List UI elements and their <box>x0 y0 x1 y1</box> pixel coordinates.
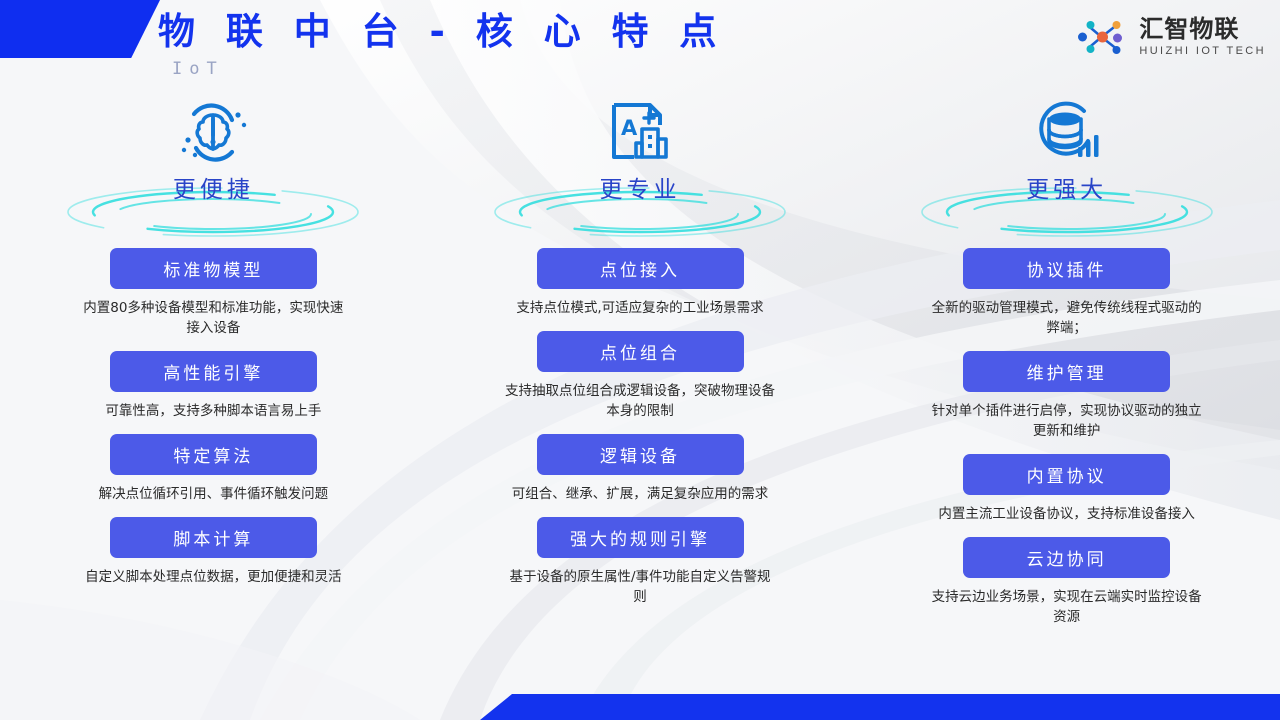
card-title-button[interactable]: 内置协议 <box>963 454 1170 495</box>
card-title-button[interactable]: 点位组合 <box>537 331 744 372</box>
column-heading-wrap-1: 更便捷 <box>63 168 363 240</box>
card-title-button[interactable]: 强大的规则引擎 <box>537 517 744 558</box>
company-logo: 汇智物联 HUIZHI IOT TECH <box>1075 14 1266 60</box>
card-list-1: 标准物模型 内置80多种设备模型和标准功能，实现快速接入设备 高性能引擎 可靠性… <box>0 248 427 600</box>
database-chart-icon <box>1032 98 1102 168</box>
card-description: 全新的驱动管理模式，避免传统线程式驱动的弊端； <box>932 298 1202 338</box>
card-title-button[interactable]: 特定算法 <box>110 434 317 475</box>
card-title-button[interactable]: 高性能引擎 <box>110 351 317 392</box>
svg-text:A: A <box>621 116 638 140</box>
card-description: 可组合、继承、扩展，满足复杂应用的需求 <box>505 484 775 504</box>
card-description: 支持云边业务场景，实现在云端实时监控设备资源 <box>932 587 1202 627</box>
page-title: 物 联 中 台 - 核 心 特 点 <box>158 8 725 56</box>
slide-root: 物 联 中 台 - 核 心 特 点 IoT 汇智物联 HUIZHI IOT TE… <box>0 0 1280 720</box>
card-title-button[interactable]: 逻辑设备 <box>537 434 744 475</box>
feature-card: 强大的规则引擎 基于设备的原生属性/事件功能自定义告警规则 <box>427 517 854 607</box>
column-heading-wrap-3: 更强大 <box>917 168 1217 240</box>
card-description: 自定义脚本处理点位数据，更加便捷和灵活 <box>78 567 348 587</box>
footer-accent-shape <box>480 694 1280 720</box>
document-grade-icon: A <box>606 98 674 168</box>
feature-column-1: 更便捷 标准物模型 内置80多种设备模型和标准功能，实现快速接入设备 高性能引擎… <box>0 96 427 720</box>
brain-ai-icon <box>176 98 250 168</box>
card-list-2: 点位接入 支持点位模式,可适应复杂的工业场景需求 点位组合 支持抽取点位组合成逻… <box>427 248 854 620</box>
feature-card: 点位接入 支持点位模式,可适应复杂的工业场景需求 <box>427 248 854 318</box>
feature-column-2: A <box>427 96 854 720</box>
logo-name-cn: 汇智物联 <box>1139 17 1266 41</box>
feature-column-3: 更强大 协议插件 全新的驱动管理模式，避免传统线程式驱动的弊端； 维护管理 针对… <box>853 96 1280 720</box>
feature-card: 特定算法 解决点位循环引用、事件循环触发问题 <box>0 434 427 504</box>
card-description: 针对单个插件进行启停，实现协议驱动的独立更新和维护 <box>932 401 1202 441</box>
feature-card: 云边协同 支持云边业务场景，实现在云端实时监控设备资源 <box>853 537 1280 627</box>
feature-card: 脚本计算 自定义脚本处理点位数据，更加便捷和灵活 <box>0 517 427 587</box>
feature-card: 高性能引擎 可靠性高，支持多种脚本语言易上手 <box>0 351 427 421</box>
page-subtitle: IoT <box>172 59 725 79</box>
card-description: 内置主流工业设备协议，支持标准设备接入 <box>932 504 1202 524</box>
header-accent-shape <box>0 0 160 58</box>
molecule-network-icon <box>1075 14 1131 60</box>
column-heading-3: 更强大 <box>1026 168 1107 204</box>
feature-card: 维护管理 针对单个插件进行启停，实现协议驱动的独立更新和维护 <box>853 351 1280 441</box>
logo-text-block: 汇智物联 HUIZHI IOT TECH <box>1139 17 1266 57</box>
card-description: 基于设备的原生属性/事件功能自定义告警规则 <box>505 567 775 607</box>
column-heading-wrap-2: 更专业 <box>490 168 790 240</box>
feature-card: 标准物模型 内置80多种设备模型和标准功能，实现快速接入设备 <box>0 248 427 338</box>
feature-card: 内置协议 内置主流工业设备协议，支持标准设备接入 <box>853 454 1280 524</box>
card-description: 支持抽取点位组合成逻辑设备，突破物理设备本身的限制 <box>505 381 775 421</box>
feature-columns: 更便捷 标准物模型 内置80多种设备模型和标准功能，实现快速接入设备 高性能引擎… <box>0 96 1280 720</box>
card-title-button[interactable]: 协议插件 <box>963 248 1170 289</box>
logo-name-en: HUIZHI IOT TECH <box>1139 46 1266 57</box>
card-description: 内置80多种设备模型和标准功能，实现快速接入设备 <box>78 298 348 338</box>
card-description: 支持点位模式,可适应复杂的工业场景需求 <box>505 298 775 318</box>
card-title-button[interactable]: 点位接入 <box>537 248 744 289</box>
card-description: 可靠性高，支持多种脚本语言易上手 <box>78 401 348 421</box>
title-block: 物 联 中 台 - 核 心 特 点 IoT <box>158 8 725 79</box>
column-heading-2: 更专业 <box>600 168 681 204</box>
feature-card: 逻辑设备 可组合、继承、扩展，满足复杂应用的需求 <box>427 434 854 504</box>
card-list-3: 协议插件 全新的驱动管理模式，避免传统线程式驱动的弊端； 维护管理 针对单个插件… <box>853 248 1280 640</box>
card-title-button[interactable]: 标准物模型 <box>110 248 317 289</box>
feature-card: 协议插件 全新的驱动管理模式，避免传统线程式驱动的弊端； <box>853 248 1280 338</box>
card-title-button[interactable]: 云边协同 <box>963 537 1170 578</box>
column-heading-1: 更便捷 <box>173 168 254 204</box>
feature-card: 点位组合 支持抽取点位组合成逻辑设备，突破物理设备本身的限制 <box>427 331 854 421</box>
card-title-button[interactable]: 维护管理 <box>963 351 1170 392</box>
card-description: 解决点位循环引用、事件循环触发问题 <box>78 484 348 504</box>
card-title-button[interactable]: 脚本计算 <box>110 517 317 558</box>
